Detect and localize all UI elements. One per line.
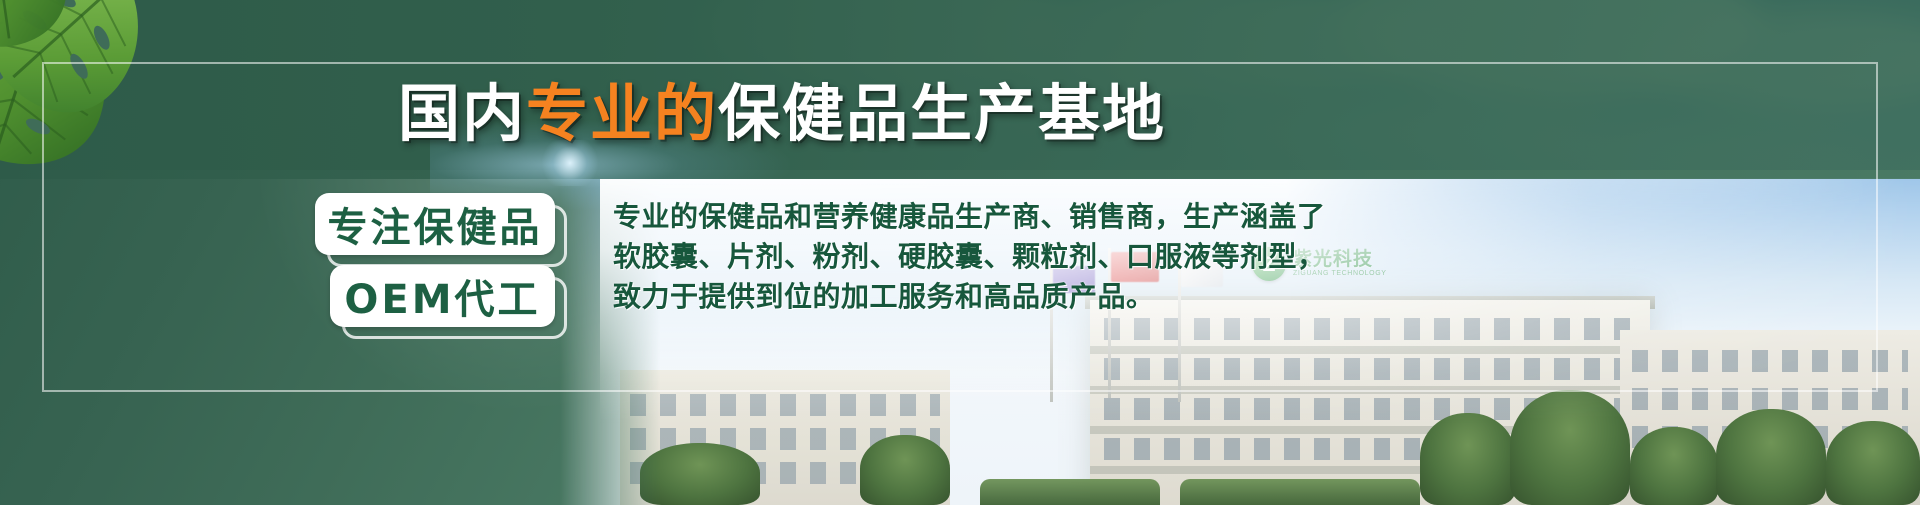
- headline-part-1: 国内: [398, 77, 526, 150]
- page-title: 国内专业的保健品生产基地: [398, 83, 1166, 145]
- monstera-leaf-icon: [0, 0, 310, 190]
- headline-highlight: 专业的: [526, 77, 718, 150]
- headline-part-2: 保健品生产基地: [718, 77, 1166, 150]
- promo-banner: Z 紫光科技 ZIGUANG TECHNOLOGY: [0, 0, 1920, 505]
- description-line-2: 软胶囊、片剂、粉剂、硬胶囊、颗粒剂、口服液等剂型，: [613, 237, 1313, 277]
- badge-oem-manufacturing[interactable]: OEM代工: [330, 265, 555, 327]
- description-line-3: 致力于提供到位的加工服务和高品质产品。: [613, 277, 1313, 317]
- description-line-1: 专业的保健品和营养健康品生产商、销售商，生产涵盖了: [613, 197, 1313, 237]
- badge-focus-health-products[interactable]: 专注保健品: [315, 193, 555, 255]
- description-text: 专业的保健品和营养健康品生产商、销售商，生产涵盖了 软胶囊、片剂、粉剂、硬胶囊、…: [613, 197, 1313, 317]
